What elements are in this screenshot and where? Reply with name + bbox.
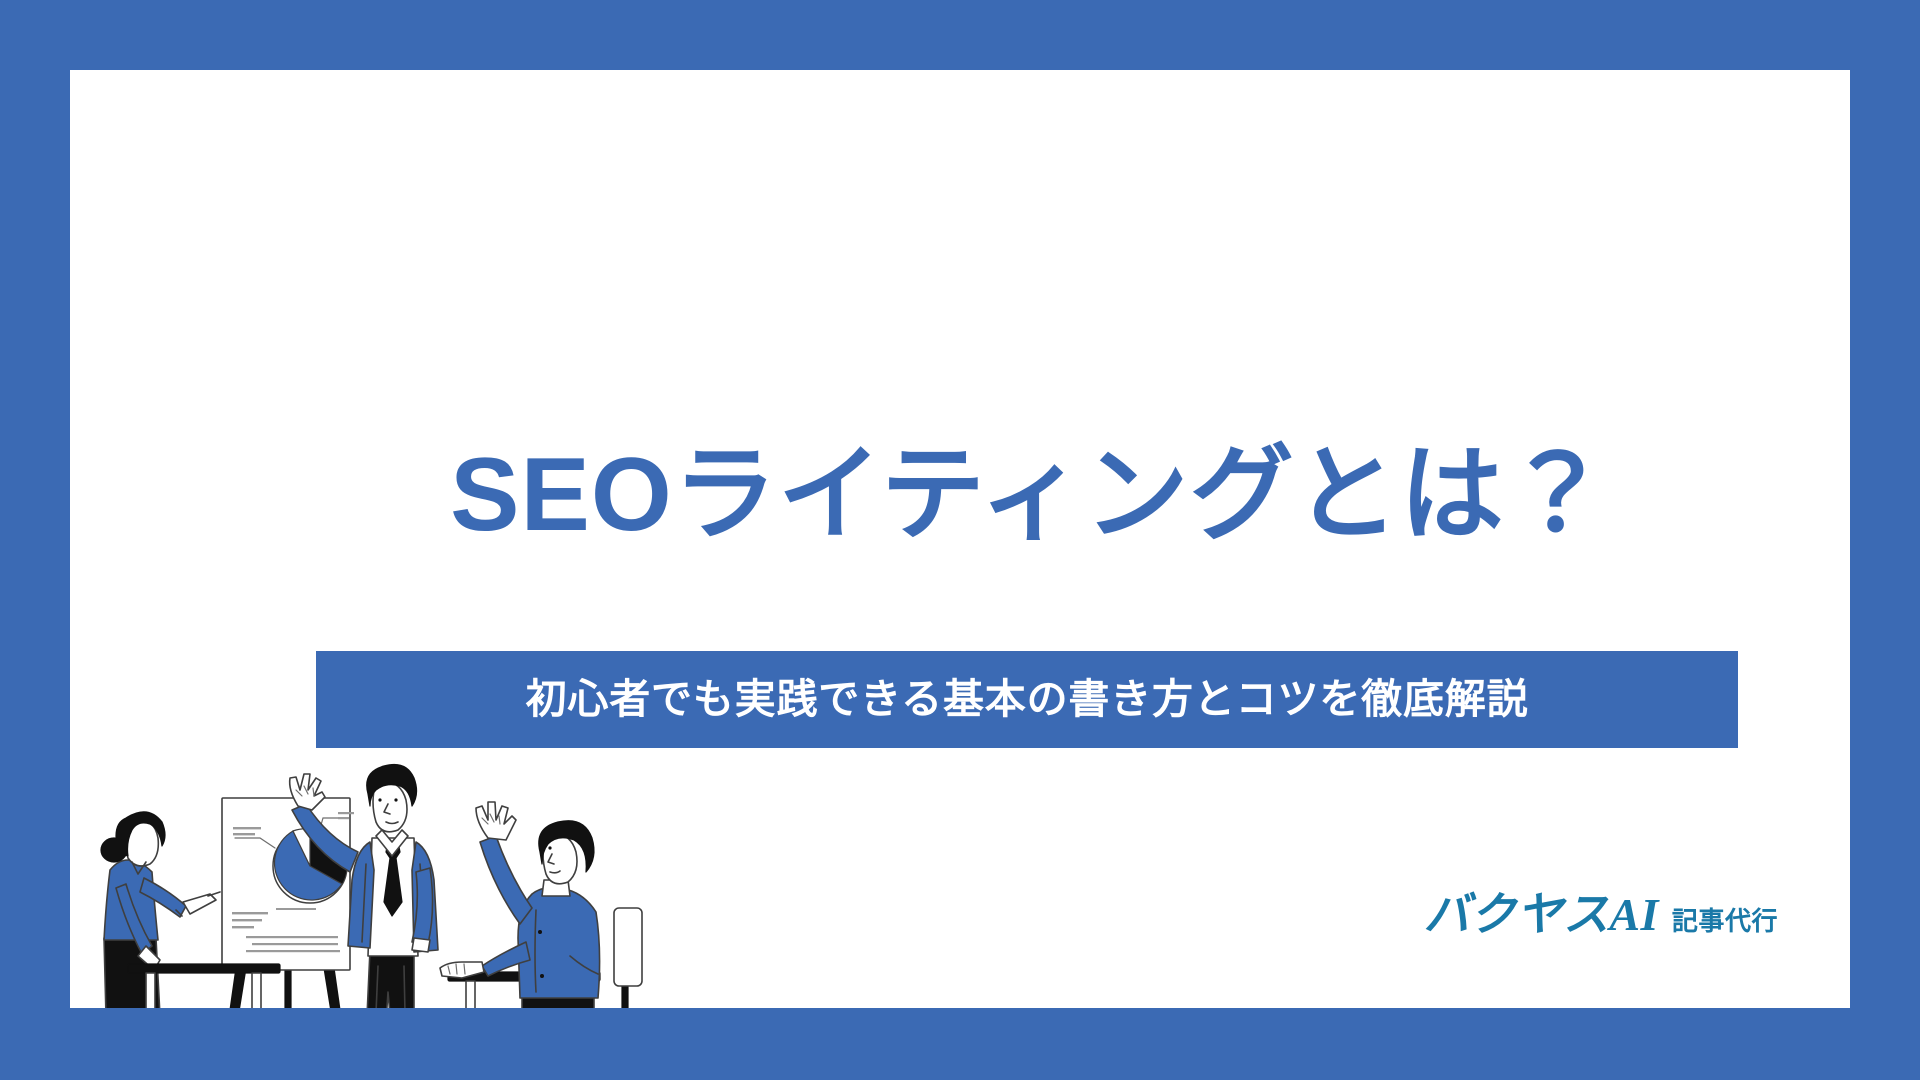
subtitle-text: 初心者でも実践できる基本の書き方とコツを徹底解説	[526, 679, 1529, 720]
monitor	[614, 908, 642, 986]
business-team-presentation-illustration: .ln { fill:none; stroke:#3F3F3F; stroke-…	[70, 760, 830, 1008]
desk-left	[128, 964, 280, 1008]
page-title: SEOライティングとは？	[70, 440, 1850, 550]
slide-canvas: .ln { fill:none; stroke:#3F3F3F; stroke-…	[0, 0, 1920, 1080]
brand-logo-service: 記事代行	[1672, 908, 1778, 934]
page-title-text: SEOライティングとは？	[450, 437, 1610, 553]
white-content-panel: .ln { fill:none; stroke:#3F3F3F; stroke-…	[70, 70, 1850, 1008]
figure-seated-raising-hand	[440, 802, 600, 1008]
brand-logo-name: バクヤスAI	[1424, 892, 1659, 938]
flipchart-easel	[220, 798, 350, 1008]
brand-logo: バクヤスAI 記事代行	[1424, 892, 1778, 938]
subtitle-band: 初心者でも実践できる基本の書き方とコツを徹底解説	[316, 651, 1738, 748]
illustration-svg: .ln { fill:none; stroke:#3F3F3F; stroke-…	[70, 760, 830, 1008]
